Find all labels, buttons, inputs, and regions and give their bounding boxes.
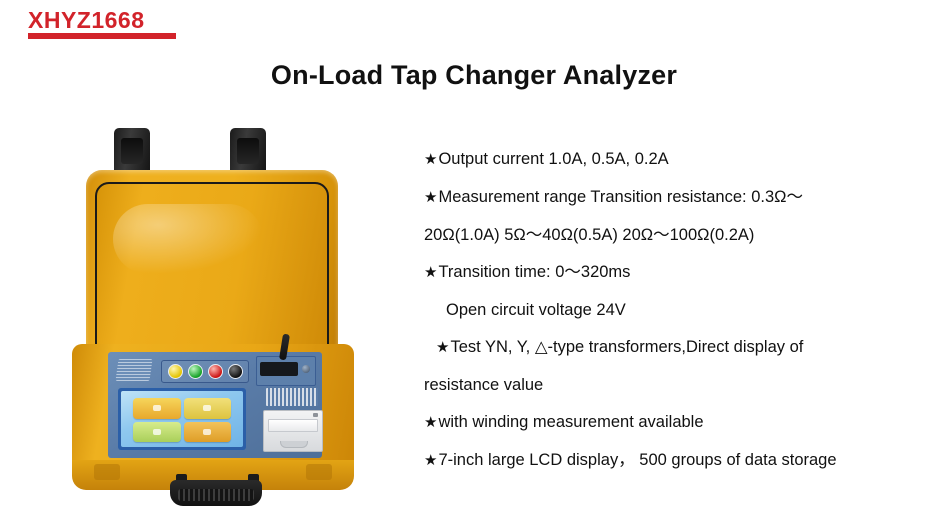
product-image: [52, 128, 382, 516]
spec-line-text: resistance value: [424, 376, 543, 394]
spec-line-4: ★Transition time: 0～320ms: [424, 263, 924, 282]
model-code: XHYZ1668: [28, 8, 176, 32]
lcd-screen[interactable]: [121, 391, 243, 447]
star-bullet-icon: ★: [424, 151, 437, 168]
terminal-red[interactable]: [208, 364, 223, 379]
spec-line-9: ★7-inch large LCD display， 500 groups of…: [424, 451, 924, 470]
terminal-green[interactable]: [188, 364, 203, 379]
spec-line-text: Test YN, Y, △-type transformers,Direct d…: [450, 338, 803, 356]
connector-port[interactable]: [260, 362, 298, 376]
printer-feed-button[interactable]: [313, 413, 318, 417]
spec-line-5: Open circuit voltage 24V: [424, 301, 924, 319]
rail-notch-right: [306, 464, 332, 480]
star-bullet-icon: ★: [424, 414, 437, 431]
spec-line-text: Measurement range Transition resistance:…: [438, 188, 803, 206]
spec-line-text: Output current 1.0A, 0.5A, 0.2A: [438, 150, 668, 168]
case-lid: [86, 170, 338, 360]
specification-list: ★Output current 1.0A, 0.5A, 0.2A★Measure…: [424, 150, 924, 489]
lid-gloss-highlight: [113, 204, 263, 274]
model-badge: XHYZ1668: [28, 8, 176, 39]
lcd-app-icon-2[interactable]: [184, 398, 232, 419]
spec-line-3: 20Ω(1.0A) 5Ω～40Ω(0.5A) 20Ω～100Ω(0.2A): [424, 226, 924, 244]
latch-right-icon: [230, 128, 266, 176]
connector-module[interactable]: [256, 356, 316, 386]
spec-line-text: 7-inch large LCD display， 500 groups of …: [438, 451, 836, 469]
spec-line-6: ★Test YN, Y, △-type transformers,Direct …: [424, 338, 924, 357]
rail-notch-left: [94, 464, 120, 480]
printer-vent-grille: [266, 388, 318, 406]
spec-line-text: Open circuit voltage 24V: [446, 301, 626, 319]
lcd-app-icon-4-glyph: [203, 429, 211, 435]
star-bullet-icon: ★: [424, 452, 437, 469]
lcd-app-icon-1[interactable]: [133, 398, 181, 419]
lcd-app-icon-2-glyph: [203, 405, 211, 411]
terminal-block: [161, 360, 249, 383]
terminal-black[interactable]: [228, 364, 243, 379]
terminal-yellow[interactable]: [168, 364, 183, 379]
star-bullet-icon: ★: [424, 264, 437, 281]
star-bullet-icon: ★: [436, 339, 449, 356]
printer-paper-slot: [268, 419, 318, 432]
case-lid-inner: [95, 182, 329, 364]
spec-line-1: ★Output current 1.0A, 0.5A, 0.2A: [424, 150, 924, 169]
thermal-printer[interactable]: [263, 410, 323, 452]
lcd-app-icon-3[interactable]: [133, 422, 181, 443]
page-title: On-Load Tap Changer Analyzer: [0, 60, 948, 91]
power-switch-knob[interactable]: [302, 365, 310, 373]
printer-cover-lip[interactable]: [280, 441, 308, 448]
case-base: [72, 344, 354, 476]
spec-line-text: Transition time: 0～320ms: [438, 263, 630, 281]
lcd-app-icon-3-glyph: [153, 429, 161, 435]
spec-line-7: resistance value: [424, 376, 924, 394]
latch-left-icon: [114, 128, 150, 176]
spec-line-text: 20Ω(1.0A) 5Ω～40Ω(0.5A) 20Ω～100Ω(0.2A): [424, 226, 754, 244]
fan-grille-icon: [115, 359, 152, 381]
spec-line-text: with winding measurement available: [438, 413, 703, 431]
spec-line-2: ★Measurement range Transition resistance…: [424, 188, 924, 207]
control-panel: [108, 352, 322, 458]
lcd-display[interactable]: [118, 388, 246, 450]
spec-line-8: ★with winding measurement available: [424, 413, 924, 432]
lcd-app-icon-4[interactable]: [184, 422, 232, 443]
handle-grip-ribs: [178, 489, 254, 501]
carry-handle[interactable]: [170, 480, 262, 506]
star-bullet-icon: ★: [424, 189, 437, 206]
lcd-app-icon-1-glyph: [153, 405, 161, 411]
model-underline-rule: [28, 33, 176, 39]
product-spec-page: XHYZ1668 On-Load Tap Changer Analyzer: [0, 0, 948, 516]
